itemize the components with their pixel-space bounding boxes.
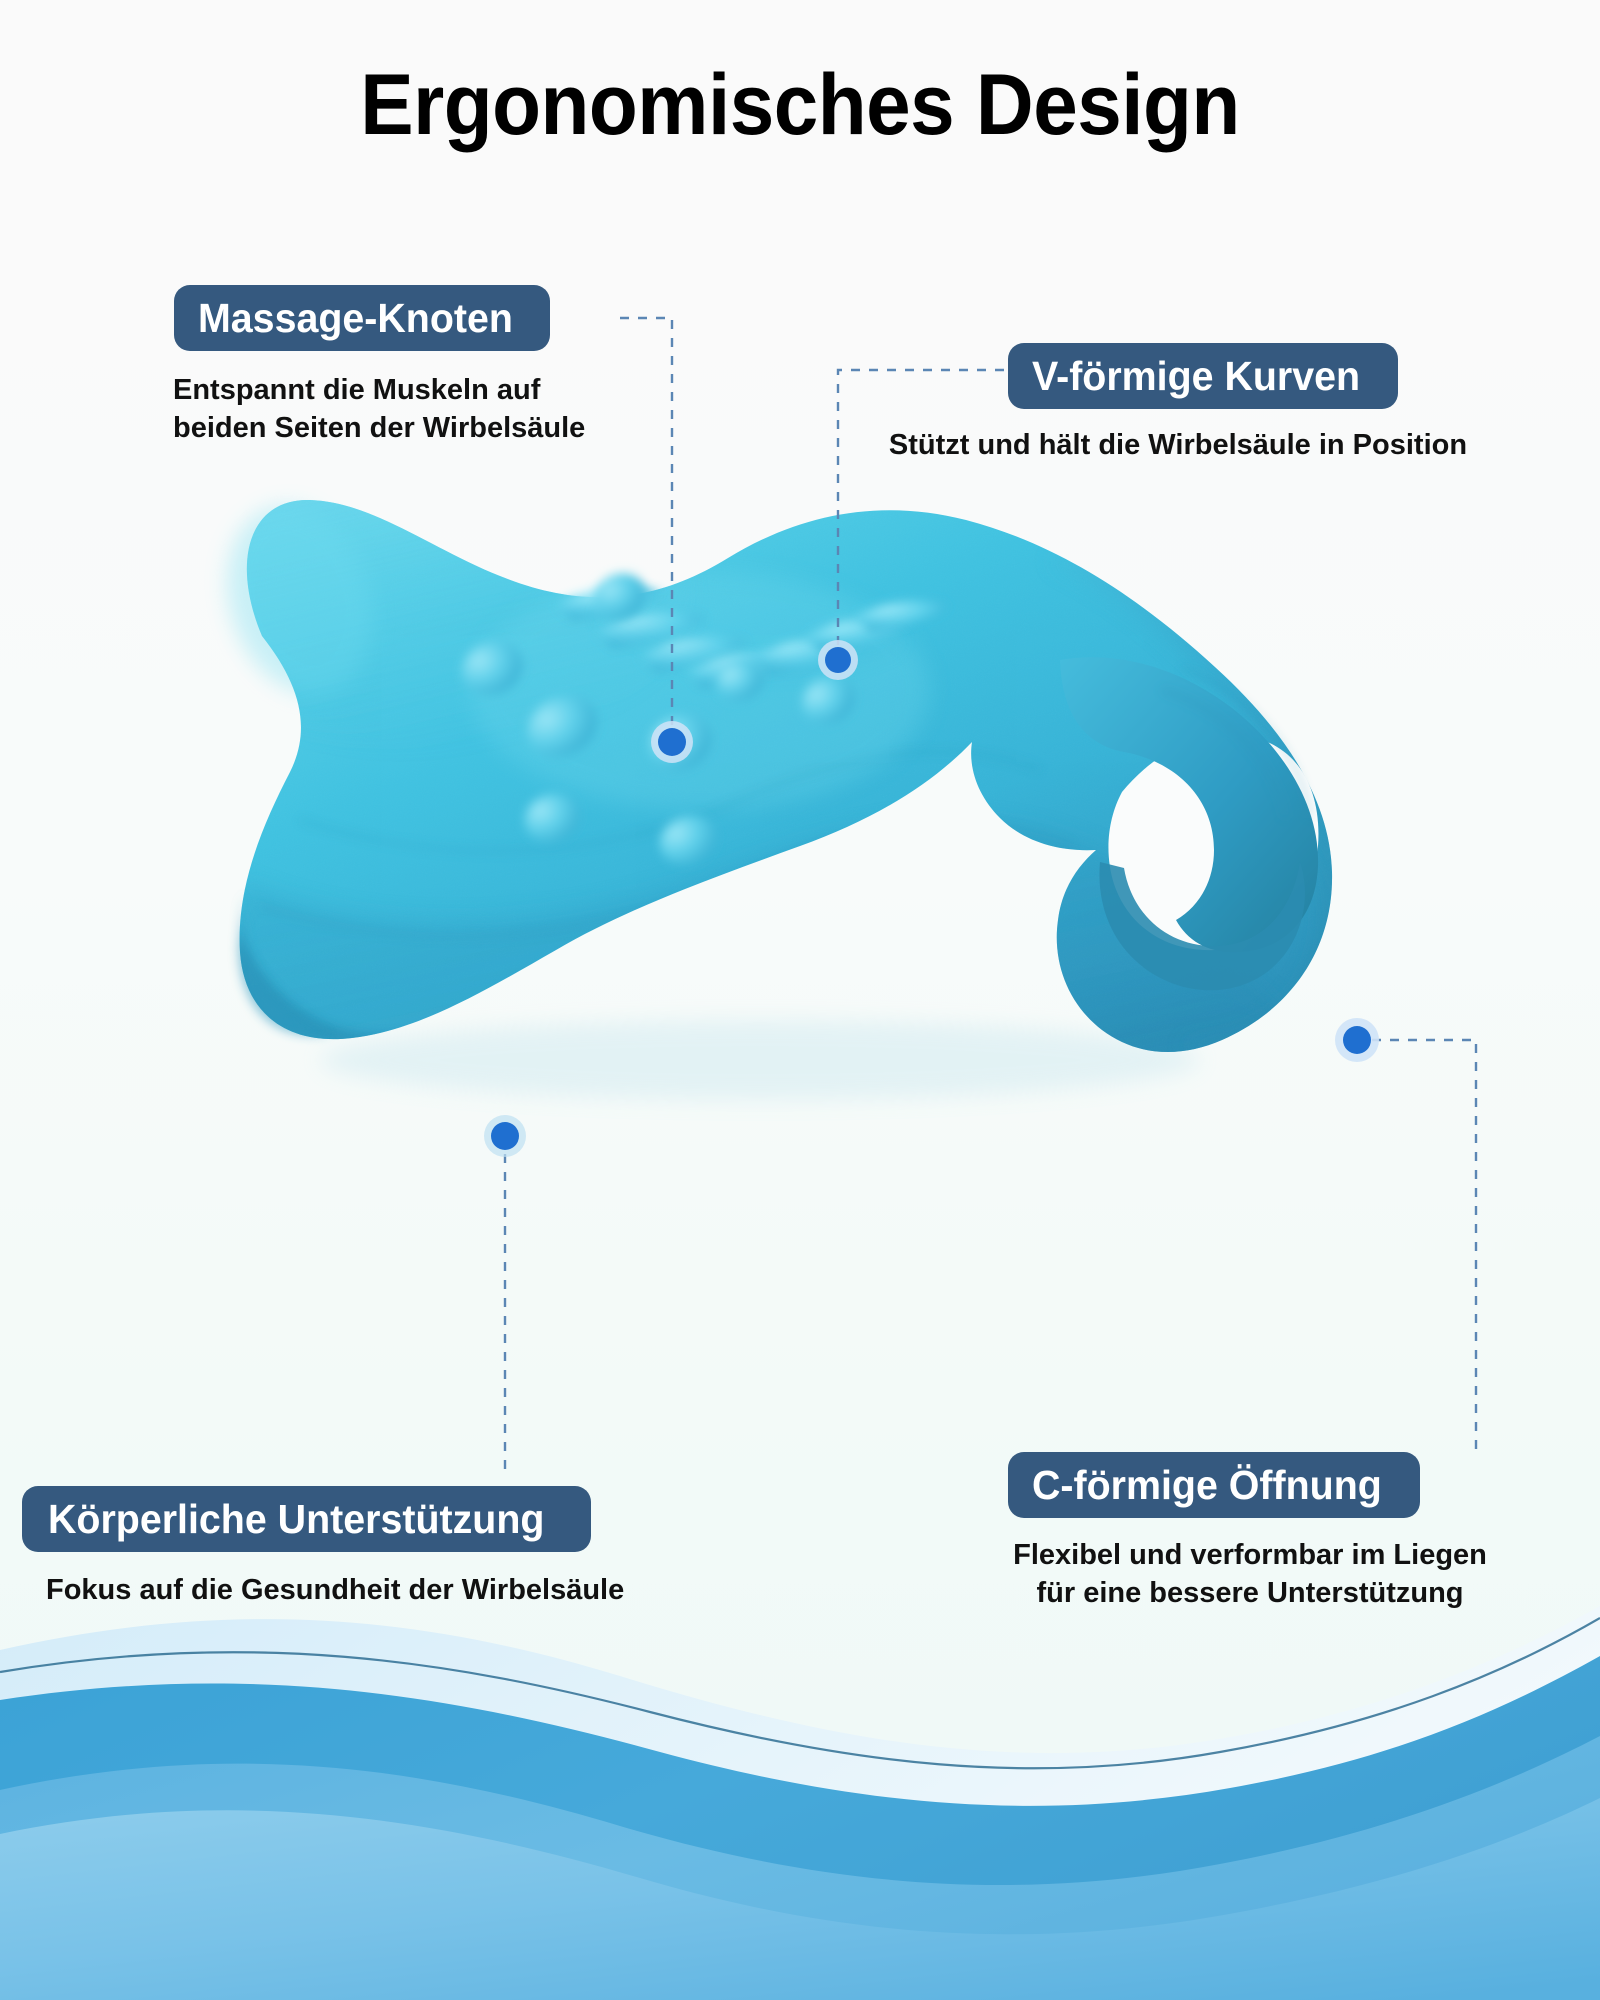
pillow-body: [170, 450, 1400, 1120]
feature-label-v-foermige-kurven: V-förmige Kurven: [1032, 353, 1360, 400]
feature-description-massage-knoten: Entspannt die Muskeln auf beiden Seiten …: [173, 372, 693, 447]
feature-badge-c-foermige-oeffnung[interactable]: C-förmige Öffnung: [1008, 1452, 1420, 1518]
feature-label-c-foermige-oeffnung: C-förmige Öffnung: [1032, 1462, 1382, 1509]
feature-label-massage-knoten: Massage-Knoten: [198, 295, 513, 342]
infographic-canvas: Ergonomisches Design: [0, 0, 1600, 2000]
feature-description-v-foermige-kurven: Stützt und hält die Wirbelsäule in Posit…: [828, 427, 1528, 465]
feature-description-koerperliche-unterstuetzung: Fokus auf die Gesundheit der Wirbelsäule: [46, 1572, 766, 1610]
feature-label-koerperliche-unterstuetzung: Körperliche Unterstützung: [48, 1496, 544, 1543]
feature-description-c-foermige-oeffnung: Flexibel und verformbar im Liegen für ei…: [950, 1537, 1550, 1612]
feature-badge-koerperliche-unterstuetzung[interactable]: Körperliche Unterstützung: [22, 1486, 591, 1552]
feature-badge-v-foermige-kurven[interactable]: V-förmige Kurven: [1008, 343, 1398, 409]
feature-badge-massage-knoten[interactable]: Massage-Knoten: [174, 285, 550, 351]
